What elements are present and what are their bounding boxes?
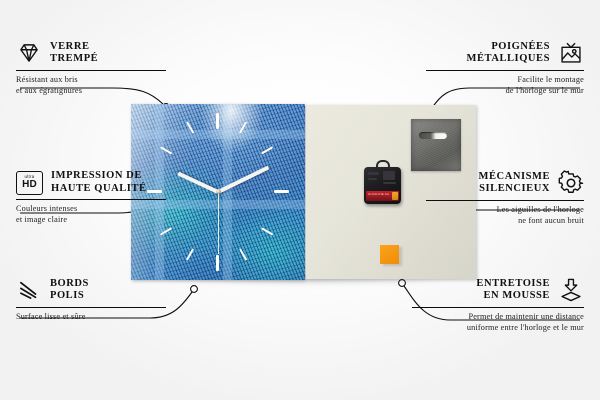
callout-subtitle: Permet de maintenir une distance uniform… <box>412 312 584 333</box>
callout-bords-polis: BORDS POLIS Surface lisse et sûre <box>16 277 166 323</box>
callout-rule <box>426 200 584 201</box>
callout-rule <box>16 307 166 308</box>
callout-poignees-metalliques: POIGNÉES MÉTALLIQUES Facilite le montage… <box>426 40 584 96</box>
callout-subtitle: Facilite le montage de l'horloge sur le … <box>426 75 584 96</box>
callout-entretoise-mousse: ENTRETOISE EN MOUSSE Permet de maintenir… <box>412 277 584 333</box>
hd-badge-hd-label: HD <box>22 180 37 190</box>
metal-hanger-plate <box>411 119 461 171</box>
movement-hook <box>376 160 390 169</box>
product-photo: ALKALINE AA <box>131 104 476 282</box>
callout-impression-hd: ultra HD IMPRESSION DE HAUTE QUALITÉ Cou… <box>16 170 166 225</box>
clock-second-hand <box>218 190 219 254</box>
ultra-hd-badge-icon: ultra HD <box>16 171 43 195</box>
callout-rule <box>16 70 166 71</box>
foam-spacer-icon <box>558 277 584 303</box>
infographic-canvas: ALKALINE AA VERRE TREMPÉ Résistant aux b… <box>0 0 600 400</box>
callout-subtitle: Couleurs intenses et image claire <box>16 204 166 225</box>
callout-rule <box>412 307 584 308</box>
callout-title: MÉCANISME SILENCIEUX <box>479 171 550 196</box>
diamond-icon <box>16 40 42 66</box>
clock-tick <box>216 255 219 271</box>
clock-tick <box>274 190 289 193</box>
callout-title: VERRE TREMPÉ <box>50 41 98 66</box>
battery-positive-tip <box>392 192 398 200</box>
quartz-movement: ALKALINE AA <box>364 167 401 204</box>
callout-title: ENTRETOISE EN MOUSSE <box>476 278 550 303</box>
gear-icon <box>558 170 584 196</box>
foam-spacer <box>380 245 399 264</box>
battery: ALKALINE AA <box>366 191 399 201</box>
callout-title: POIGNÉES MÉTALLIQUES <box>467 41 550 66</box>
callout-title: IMPRESSION DE HAUTE QUALITÉ <box>51 170 147 195</box>
callout-rule <box>426 70 584 71</box>
callout-subtitle: Les aiguilles de l'horloge ne font aucun… <box>426 205 584 226</box>
callout-subtitle: Résistant aux bris et aux égratignures <box>16 75 166 96</box>
picture-hanger-icon <box>558 40 584 66</box>
leader-dot-bords-polis <box>191 286 198 293</box>
callout-verre-trempe: VERRE TREMPÉ Résistant aux bris et aux é… <box>16 40 166 96</box>
clock-center-pin <box>216 189 221 194</box>
callout-mecanisme-silencieux: MÉCANISME SILENCIEUX Les aiguilles de l'… <box>426 170 584 226</box>
hanger-keyhole-slot <box>419 132 447 139</box>
polished-edges-icon <box>16 277 42 303</box>
callout-rule <box>16 199 166 200</box>
clock-tick <box>216 113 219 129</box>
battery-label: ALKALINE AA <box>368 193 389 196</box>
callout-subtitle: Surface lisse et sûre <box>16 312 166 323</box>
callout-title: BORDS POLIS <box>50 278 89 303</box>
